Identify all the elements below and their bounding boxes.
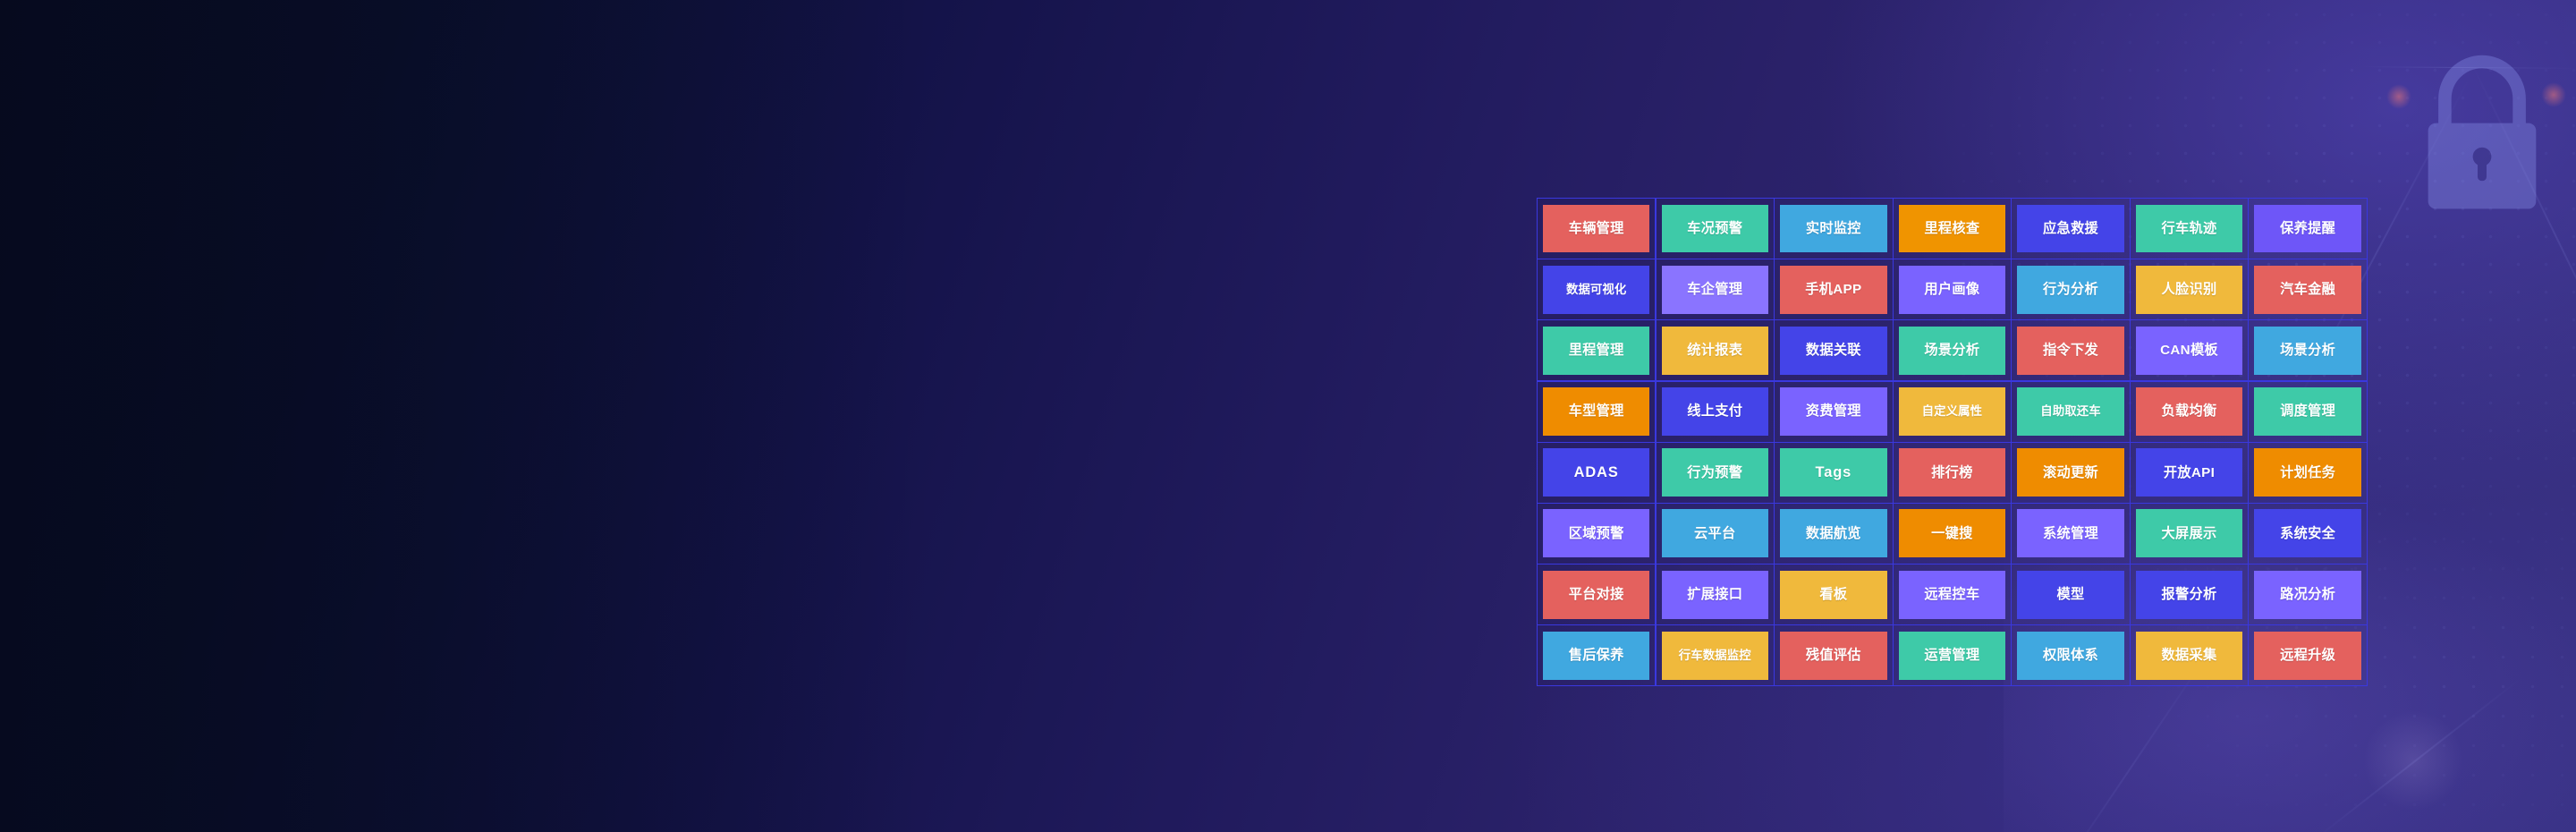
feature-tile-fill: 滚动更新 xyxy=(2017,448,2123,497)
feature-tile[interactable]: 指令下发 xyxy=(2011,319,2130,381)
feature-tile-label: 里程核查 xyxy=(1924,222,1979,235)
feature-tile-fill: 开放API xyxy=(2136,448,2242,497)
feature-tile-label: 一键搜 xyxy=(1931,527,1972,540)
feature-tile[interactable]: 线上支付 xyxy=(1656,381,1775,443)
feature-tile-fill: 场景分析 xyxy=(2254,327,2360,375)
feature-tile[interactable]: 排行榜 xyxy=(1893,442,2012,504)
feature-tile-label: 权限体系 xyxy=(2043,649,2098,662)
feature-tile-label: 远程升级 xyxy=(2280,649,2335,662)
feature-tile[interactable]: 行为预警 xyxy=(1656,442,1775,504)
feature-tile-fill: 里程管理 xyxy=(1543,327,1649,375)
padlock-icon xyxy=(2386,38,2576,224)
feature-tile-fill: 里程核查 xyxy=(1899,205,2005,253)
feature-tile-fill: 手机APP xyxy=(1780,266,1886,314)
feature-tile-fill: 车企管理 xyxy=(1662,266,1768,314)
feature-tile-label: 模型 xyxy=(2056,588,2084,601)
feature-tile-label: 路况分析 xyxy=(2280,588,2335,601)
feature-tile-fill: 场景分析 xyxy=(1899,327,2005,375)
feature-tile[interactable]: 开放API xyxy=(2130,442,2249,504)
feature-tile-label: 自定义属性 xyxy=(1922,405,1982,417)
feature-tile-label: 指令下发 xyxy=(2043,344,2098,357)
feature-tile[interactable]: 远程升级 xyxy=(2248,624,2367,686)
feature-tile-label: 开放API xyxy=(2164,466,2215,480)
feature-tile[interactable]: 看板 xyxy=(1774,564,1893,625)
feature-tile-label: 平台对接 xyxy=(1569,588,1624,601)
feature-tile[interactable]: 数据关联 xyxy=(1774,319,1893,381)
feature-tile[interactable]: 手机APP xyxy=(1774,259,1893,320)
feature-tile-label: 实时监控 xyxy=(1806,222,1861,235)
feature-tile[interactable]: 用户画像 xyxy=(1893,259,2012,320)
feature-tile-label: 车型管理 xyxy=(1569,404,1624,418)
feature-tile-label: 统计报表 xyxy=(1687,344,1742,357)
feature-tile-label: 资费管理 xyxy=(1806,404,1861,418)
feature-tile-label: 负载均衡 xyxy=(2162,404,2217,418)
feature-tile-label: 调度管理 xyxy=(2280,404,2335,418)
feature-tile-label: 系统安全 xyxy=(2280,527,2335,540)
feature-tile-fill: 系统管理 xyxy=(2017,509,2123,557)
feature-tile[interactable]: 人脸识别 xyxy=(2130,259,2249,320)
feature-tile-fill: 自助取还车 xyxy=(2017,387,2123,436)
feature-tile-fill: 行为分析 xyxy=(2017,266,2123,314)
feature-tile-label: 数据航览 xyxy=(1806,527,1861,540)
feature-tile-fill: 报警分析 xyxy=(2136,571,2242,619)
feature-tile[interactable]: Tags xyxy=(1774,442,1893,504)
feature-tile-label: 残值评估 xyxy=(1806,649,1861,662)
feature-tile-label: 行为预警 xyxy=(1687,466,1742,480)
feature-tile-fill: 路况分析 xyxy=(2254,571,2360,619)
feature-tile[interactable]: 数据采集 xyxy=(2130,624,2249,686)
feature-tile[interactable]: 计划任务 xyxy=(2248,442,2367,504)
feature-tile-fill: 行车轨迹 xyxy=(2136,205,2242,253)
feature-tile-label: 大屏展示 xyxy=(2162,527,2217,540)
feature-tile[interactable]: 车型管理 xyxy=(1537,381,1656,443)
feature-tile-fill: 模型 xyxy=(2017,571,2123,619)
feature-tile[interactable]: 系统管理 xyxy=(2011,503,2130,565)
feature-tile[interactable]: 系统安全 xyxy=(2248,503,2367,565)
feature-tile-fill: 数据采集 xyxy=(2136,632,2242,680)
feature-tile-label: 计划任务 xyxy=(2280,466,2335,480)
feature-tile-label: 车企管理 xyxy=(1687,283,1742,296)
feature-tile-label: 场景分析 xyxy=(1924,344,1979,357)
feature-tile[interactable]: ADAS xyxy=(1537,442,1656,504)
feature-tile-label: 售后保养 xyxy=(1569,649,1624,662)
feature-tile-fill: 计划任务 xyxy=(2254,448,2360,497)
feature-tile-label: 线上支付 xyxy=(1687,404,1742,418)
feature-tile[interactable]: 负载均衡 xyxy=(2130,381,2249,443)
feature-tile[interactable]: 实时监控 xyxy=(1774,198,1893,259)
feature-tile-fill: CAN模板 xyxy=(2136,327,2242,375)
feature-tile-fill: ADAS xyxy=(1543,448,1649,497)
feature-tile[interactable]: 车企管理 xyxy=(1656,259,1775,320)
feature-tile-label: 远程控车 xyxy=(1924,588,1979,601)
feature-tile-fill: 云平台 xyxy=(1662,509,1768,557)
feature-tile-fill: 扩展接口 xyxy=(1662,571,1768,619)
feature-tile-label: 看板 xyxy=(1819,588,1847,601)
feature-tile-label: 车况预警 xyxy=(1687,222,1742,235)
feature-tile[interactable]: 扩展接口 xyxy=(1656,564,1775,625)
feature-tile-label: 行车轨迹 xyxy=(2162,222,2217,235)
feature-tile[interactable]: 保养提醒 xyxy=(2248,198,2367,259)
feature-tile-fill: 调度管理 xyxy=(2254,387,2360,436)
feature-tile-fill: 用户画像 xyxy=(1899,266,2005,314)
feature-tile-fill: 行为预警 xyxy=(1662,448,1768,497)
feature-tile-label: 数据可视化 xyxy=(1566,284,1626,295)
feature-tile-fill: 售后保养 xyxy=(1543,632,1649,680)
feature-tile-fill: 残值评估 xyxy=(1780,632,1886,680)
feature-tile-label: 运营管理 xyxy=(1924,649,1979,662)
feature-tile-fill: 指令下发 xyxy=(2017,327,2123,375)
feature-tile-fill: 数据可视化 xyxy=(1543,266,1649,314)
feature-tile[interactable]: 权限体系 xyxy=(2011,624,2130,686)
feature-tile-label: 扩展接口 xyxy=(1687,588,1742,601)
feature-tile[interactable]: 行车数据监控 xyxy=(1656,624,1775,686)
feature-tile-label: CAN模板 xyxy=(2160,344,2218,357)
feature-tile[interactable]: 自助取还车 xyxy=(2011,381,2130,443)
feature-tile[interactable]: 场景分析 xyxy=(1893,319,2012,381)
feature-tile-label: 行为分析 xyxy=(2043,283,2098,296)
feature-tile-label: 保养提醒 xyxy=(2280,222,2335,235)
feature-tile-fill: 车型管理 xyxy=(1543,387,1649,436)
background-glow-dot-left xyxy=(2386,84,2411,109)
feature-tile[interactable]: 行车轨迹 xyxy=(2130,198,2249,259)
feature-tile-fill: 数据航览 xyxy=(1780,509,1886,557)
feature-tile-label: 系统管理 xyxy=(2043,527,2098,540)
feature-tile-fill: 平台对接 xyxy=(1543,571,1649,619)
feature-tile-fill: 统计报表 xyxy=(1662,327,1768,375)
feature-tile-fill: 大屏展示 xyxy=(2136,509,2242,557)
feature-tile[interactable]: 汽车金融 xyxy=(2248,259,2367,320)
feature-tile-fill: 远程升级 xyxy=(2254,632,2360,680)
feature-tile-fill: 线上支付 xyxy=(1662,387,1768,436)
feature-tile-fill: 系统安全 xyxy=(2254,509,2360,557)
feature-tile[interactable]: 调度管理 xyxy=(2248,381,2367,443)
feature-tile[interactable]: 自定义属性 xyxy=(1893,381,2012,443)
feature-tile-fill: 保养提醒 xyxy=(2254,205,2360,253)
feature-tile-fill: 人脸识别 xyxy=(2136,266,2242,314)
feature-tile-label: 数据采集 xyxy=(2162,649,2217,662)
feature-tile-label: 里程管理 xyxy=(1569,344,1624,357)
feature-tile-label: 用户画像 xyxy=(1924,283,1979,296)
feature-tile-fill: 自定义属性 xyxy=(1899,387,2005,436)
feature-tile-fill: 资费管理 xyxy=(1780,387,1886,436)
feature-tile-label: 人脸识别 xyxy=(2162,283,2217,296)
feature-tile[interactable]: 模型 xyxy=(2011,564,2130,625)
feature-tile[interactable]: 一键搜 xyxy=(1893,503,2012,565)
feature-tile[interactable]: CAN模板 xyxy=(2130,319,2249,381)
feature-tile[interactable]: 里程管理 xyxy=(1537,319,1656,381)
feature-tile-fill: 车辆管理 xyxy=(1543,205,1649,253)
feature-tile-label: 手机APP xyxy=(1805,283,1861,296)
feature-tile[interactable]: 滚动更新 xyxy=(2011,442,2130,504)
feature-tile-label: 数据关联 xyxy=(1806,344,1861,357)
feature-tile[interactable]: 残值评估 xyxy=(1774,624,1893,686)
feature-tile[interactable]: 应急救援 xyxy=(2011,198,2130,259)
feature-tile[interactable]: 行为分析 xyxy=(2011,259,2130,320)
feature-tile[interactable]: 统计报表 xyxy=(1656,319,1775,381)
feature-tile-label: Tags xyxy=(1816,465,1852,480)
feature-tile-fill: 汽车金融 xyxy=(2254,266,2360,314)
feature-tile-label: 滚动更新 xyxy=(2043,466,2098,480)
feature-tile-label: 应急救援 xyxy=(2043,222,2098,235)
feature-tile-label: 场景分析 xyxy=(2280,344,2335,357)
app-canvas: 车辆管理车况预警实时监控里程核查应急救援行车轨迹保养提醒数据可视化车企管理手机A… xyxy=(0,0,2576,832)
feature-tile-grid: 车辆管理车况预警实时监控里程核查应急救援行车轨迹保养提醒数据可视化车企管理手机A… xyxy=(1537,198,2367,686)
feature-tile-label: 区域预警 xyxy=(1569,527,1624,540)
feature-tile-fill: 远程控车 xyxy=(1899,571,2005,619)
feature-tile[interactable]: 运营管理 xyxy=(1893,624,2012,686)
feature-tile-label: 云平台 xyxy=(1694,527,1735,540)
feature-tile[interactable]: 资费管理 xyxy=(1774,381,1893,443)
feature-tile-label: 车辆管理 xyxy=(1569,222,1624,235)
feature-tile[interactable]: 数据航览 xyxy=(1774,503,1893,565)
feature-tile-fill: Tags xyxy=(1780,448,1886,497)
feature-tile[interactable]: 车辆管理 xyxy=(1537,198,1656,259)
feature-tile-fill: 实时监控 xyxy=(1780,205,1886,253)
feature-tile-label: 自助取还车 xyxy=(2040,405,2100,417)
feature-tile-fill: 权限体系 xyxy=(2017,632,2123,680)
feature-tile[interactable]: 区域预警 xyxy=(1537,503,1656,565)
feature-tile-fill: 行车数据监控 xyxy=(1662,632,1768,680)
feature-tile-label: 排行榜 xyxy=(1931,466,1972,480)
feature-tile[interactable]: 远程控车 xyxy=(1893,564,2012,625)
feature-tile[interactable]: 数据可视化 xyxy=(1537,259,1656,320)
feature-tile-fill: 车况预警 xyxy=(1662,205,1768,253)
feature-tile-label: 汽车金融 xyxy=(2280,283,2335,296)
feature-tile[interactable]: 云平台 xyxy=(1656,503,1775,565)
feature-tile[interactable]: 里程核查 xyxy=(1893,198,2012,259)
feature-tile[interactable]: 大屏展示 xyxy=(2130,503,2249,565)
feature-tile-fill: 应急救援 xyxy=(2017,205,2123,253)
feature-tile[interactable]: 平台对接 xyxy=(1537,564,1656,625)
feature-tile-fill: 一键搜 xyxy=(1899,509,2005,557)
feature-tile-fill: 负载均衡 xyxy=(2136,387,2242,436)
feature-tile[interactable]: 报警分析 xyxy=(2130,564,2249,625)
feature-tile[interactable]: 路况分析 xyxy=(2248,564,2367,625)
feature-tile-fill: 运营管理 xyxy=(1899,632,2005,680)
feature-tile-fill: 看板 xyxy=(1780,571,1886,619)
background-glow-orb xyxy=(2361,709,2465,812)
feature-tile-label: ADAS xyxy=(1574,465,1619,480)
feature-tile-fill: 数据关联 xyxy=(1780,327,1886,375)
feature-tile[interactable]: 车况预警 xyxy=(1656,198,1775,259)
feature-tile[interactable]: 售后保养 xyxy=(1537,624,1656,686)
feature-tile-label: 报警分析 xyxy=(2162,588,2217,601)
background-left-fade xyxy=(0,0,930,832)
feature-tile[interactable]: 场景分析 xyxy=(2248,319,2367,381)
feature-tile-label: 行车数据监控 xyxy=(1679,649,1751,661)
feature-tile-fill: 排行榜 xyxy=(1899,448,2005,497)
feature-tile-fill: 区域预警 xyxy=(1543,509,1649,557)
background-glow-dot-right xyxy=(2541,82,2566,107)
